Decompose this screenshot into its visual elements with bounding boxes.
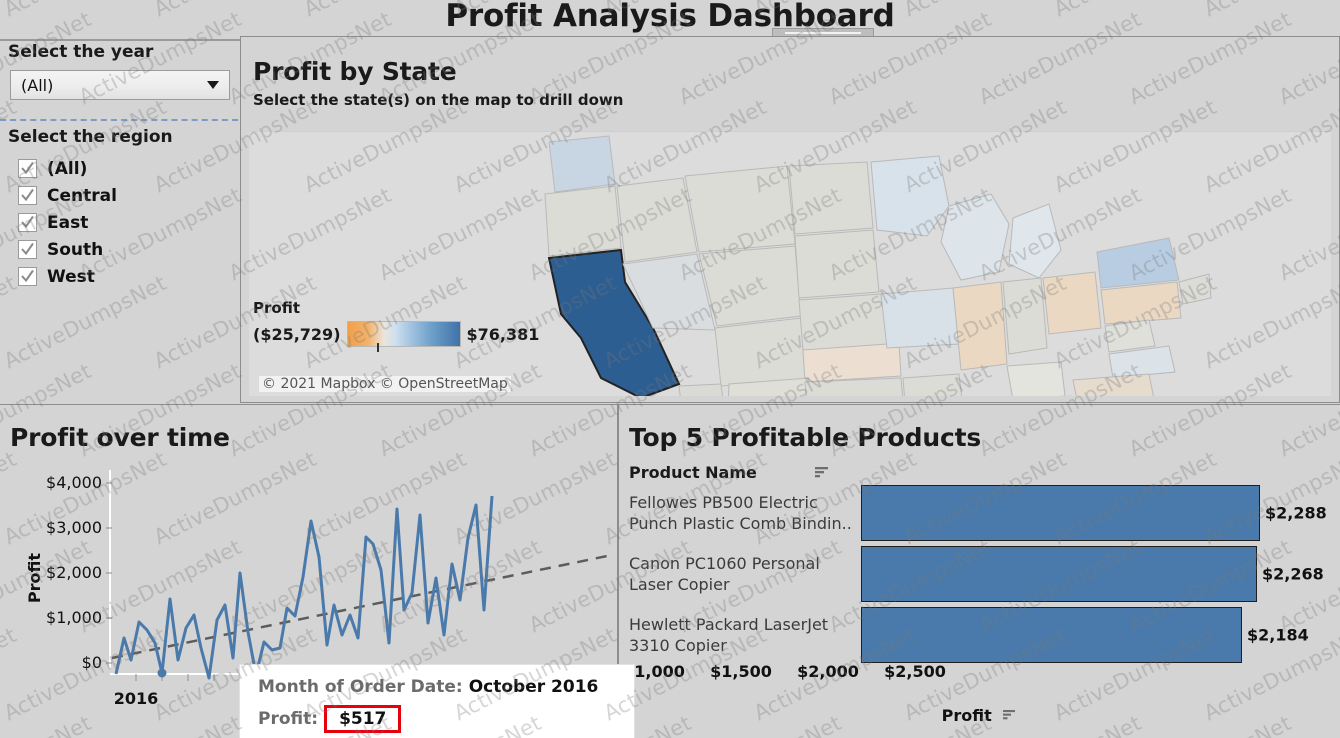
state-washington [549,136,615,192]
state-north-dakota [789,162,873,234]
bar-fill[interactable] [861,607,1242,663]
state-oregon [545,186,621,256]
checkbox-icon[interactable] [18,267,37,286]
region-option-west[interactable]: West [0,263,238,290]
x-tick-label: 2016 [114,689,159,708]
state-west-virginia [1105,320,1155,352]
legend-gradient-bar [347,321,461,347]
region-option-label: (All) [47,159,87,179]
bar-value-label: $2,268 [1262,565,1324,584]
tooltip-profit-value: $517 [324,705,401,733]
region-option-south[interactable]: South [0,236,238,263]
bar-panel-title: Top 5 Profitable Products [629,423,981,452]
x-tick-label: $2,000 [797,662,859,681]
tooltip-profit-key: Profit: [258,709,318,729]
region-option-label: South [47,240,103,260]
y-axis-title: Profit [25,553,44,603]
bar-value-label: $2,184 [1247,626,1309,645]
state-wisconsin [941,194,1009,280]
state-nebraska [799,294,887,350]
bar-fill[interactable] [861,485,1260,541]
checkbox-icon[interactable] [18,213,37,232]
y-tick-label: $3,000 [46,518,102,537]
legend-min-value: ($25,729) [253,325,341,344]
state-michigan [1009,204,1061,278]
table-row[interactable]: Canon PC1060 Personal Laser Copier $2,26… [629,546,1340,602]
us-choropleth-map[interactable]: © 2021 Mapbox © OpenStreetMap [249,131,1331,396]
region-option-east[interactable]: East [0,209,238,236]
region-option-label: West [47,267,95,287]
map-legend: Profit ($25,729) $76,381 [253,299,539,347]
x-tick-label: $1,500 [710,662,772,681]
state-utah [715,318,805,386]
y-tick-label: $0 [82,653,102,672]
bar-track: $2,184 [861,607,1340,663]
state-indiana [1003,278,1047,354]
legend-zero-tick [377,343,379,352]
map-svg[interactable] [249,132,1331,396]
bar-axis-title: Profit [942,706,992,725]
map-panel-subtitle: Select the state(s) on the map to drill … [253,91,623,109]
state-new-england [1179,274,1211,304]
y-tick-label: $1,000 [46,608,102,627]
bar-fill[interactable] [861,546,1257,602]
table-row[interactable]: Hewlett Packard LaserJet 3310 Copier $2,… [629,607,1340,663]
profit-by-state-panel: Profit by State Select the state(s) on t… [240,36,1340,403]
product-name-label: Canon PC1060 Personal Laser Copier [629,553,861,595]
product-name-label: Hewlett Packard LaserJet 3310 Copier [629,614,861,656]
checkbox-icon[interactable] [18,186,37,205]
map-panel-title: Profit by State [253,57,457,86]
state-iowa [881,288,959,348]
region-option-label: Central [47,186,117,206]
year-filter-value: (All) [21,76,53,95]
bar-column-header: Product Name [629,463,859,482]
state-pennsylvania [1101,282,1181,324]
table-row[interactable]: Fellowes PB500 Electric Punch Plastic Co… [629,485,1340,541]
filter-divider [0,119,238,121]
top-products-panel: Top 5 Profitable Products Product Name F… [618,404,1340,738]
state-missouri [903,374,965,396]
highlighted-data-point[interactable] [158,669,167,678]
state-idaho [617,178,697,262]
year-filter-label: Select the year [0,42,238,62]
checkbox-icon[interactable] [18,240,37,259]
chart-tooltip: Month of Order Date: October 2016 Profit… [240,665,634,738]
tooltip-date-key: Month of Order Date: [258,677,463,697]
sort-descending-icon[interactable] [815,463,829,482]
product-name-header: Product Name [629,463,757,482]
bar-axis-title-row: Profit [618,705,1340,725]
year-filter-dropdown[interactable]: (All) [10,70,230,100]
checkbox-icon[interactable] [18,159,37,178]
y-tick-label: $2,000 [46,563,102,582]
region-filter-label: Select the region [0,127,238,147]
state-north-carolina [1073,374,1155,396]
region-option-central[interactable]: Central [0,182,238,209]
product-name-label: Fellowes PB500 Electric Punch Plastic Co… [629,492,861,534]
state-illinois [953,282,1007,370]
state-montana [685,166,795,252]
page-title: Profit Analysis Dashboard [0,0,1340,34]
state-south-dakota [795,230,879,298]
tooltip-date-value: October 2016 [469,677,599,697]
state-arizona [679,384,727,396]
bar-track: $2,288 [861,485,1340,541]
line-panel-title: Profit over time [10,423,230,452]
bar-value-label: $2,288 [1265,504,1327,523]
filters-sidebar: Select the year (All) Select the region … [0,42,238,402]
state-kentucky [1007,362,1065,396]
x-tick-label: $2,500 [884,662,946,681]
region-option-label: East [47,213,88,233]
state-new-york [1097,238,1179,288]
region-option-all[interactable]: (All) [0,155,238,182]
bar-track: $2,268 [861,546,1340,602]
bar-row-list: Fellowes PB500 Electric Punch Plastic Co… [629,485,1340,668]
state-ohio [1043,272,1101,334]
state-minnesota [871,156,949,236]
y-tick-label: $4,000 [46,473,102,492]
state-wyoming [699,246,801,326]
y-axis-ticks: $4,000 $3,000 $2,000 $1,000 $0 [46,473,112,672]
region-checkbox-list: (All) Central East South [0,155,238,290]
legend-max-value: $76,381 [467,325,540,344]
map-attribution: © 2021 Mapbox © OpenStreetMap [259,376,511,392]
chevron-down-icon [207,81,219,89]
sort-descending-icon[interactable] [1003,705,1016,724]
legend-title: Profit [253,299,539,317]
profit-line-series[interactable] [116,496,492,678]
